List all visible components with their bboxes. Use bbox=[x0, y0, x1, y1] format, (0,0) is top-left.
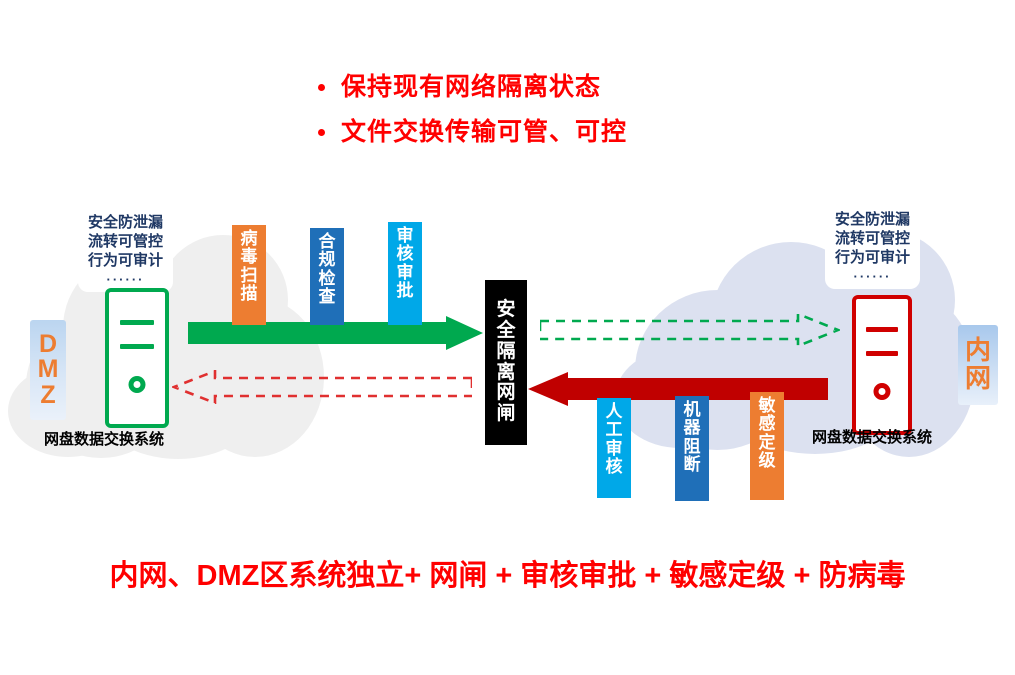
server-bar bbox=[120, 344, 155, 349]
badge-char: 病 bbox=[241, 230, 258, 248]
callout-intranet: 安全防泄漏 流转可管控 行为可审计 ······ bbox=[825, 203, 920, 289]
callout-dots-icon: ······ bbox=[835, 270, 910, 283]
badge-char: 审 bbox=[397, 264, 414, 282]
gateway-char: 隔 bbox=[496, 342, 515, 363]
security-gateway-box: 安 全 隔 离 网 闸 bbox=[485, 280, 527, 445]
bullet-dot-icon bbox=[318, 84, 325, 91]
summary-footer: 内网、DMZ区系统独立+ 网闸 + 审核审批 + 敏感定级 + 防病毒 bbox=[0, 552, 1015, 594]
arrow-gateway-to-dmz bbox=[172, 370, 472, 404]
badge-char: 扫 bbox=[241, 267, 258, 285]
bullet-item: 文件交换传输可管、可控 bbox=[318, 120, 798, 145]
server-bar bbox=[866, 327, 898, 332]
callout-line: 安全防泄漏 bbox=[835, 211, 910, 230]
badge-manual-review: 人 工 审 核 bbox=[597, 398, 631, 498]
caption-intranet-system: 网盘数据交换系统 bbox=[812, 426, 932, 447]
zone-char: 网 bbox=[965, 365, 991, 393]
callout-line: 安全防泄漏 bbox=[88, 214, 163, 233]
badge-char: 合 bbox=[319, 233, 336, 251]
callout-line: 流转可管控 bbox=[88, 233, 163, 252]
callout-line: 流转可管控 bbox=[835, 230, 910, 249]
caption-dmz-system: 网盘数据交换系统 bbox=[44, 428, 164, 449]
badge-sensitivity-grading: 敏 感 定 级 bbox=[750, 392, 784, 500]
badge-char: 描 bbox=[241, 285, 258, 303]
bullet-dot-icon bbox=[318, 129, 325, 136]
badge-char: 断 bbox=[684, 456, 701, 474]
callout-line: 行为可审计 bbox=[88, 252, 163, 271]
badge-char: 审 bbox=[606, 440, 623, 458]
gateway-char: 闸 bbox=[496, 404, 515, 425]
badge-char: 规 bbox=[319, 251, 336, 269]
bullet-item: 保持现有网络隔离状态 bbox=[318, 75, 798, 100]
zone-char: 内 bbox=[965, 337, 991, 365]
server-icon-intranet bbox=[852, 295, 912, 435]
badge-char: 感 bbox=[759, 415, 776, 433]
badge-machine-block: 机 器 阻 断 bbox=[675, 396, 709, 501]
zone-chip-intranet: 内 网 bbox=[958, 325, 998, 405]
server-bar bbox=[120, 320, 155, 325]
gateway-char: 全 bbox=[496, 321, 515, 342]
server-icon-dmz bbox=[105, 288, 169, 428]
diagram-canvas: 保持现有网络隔离状态 文件交换传输可管、可控 D M Z 内 网 安全防泄漏 流… bbox=[0, 0, 1015, 675]
gateway-char: 网 bbox=[496, 383, 515, 404]
badge-review-approval: 审 核 审 批 bbox=[388, 222, 422, 325]
server-power-icon bbox=[874, 383, 891, 400]
bullet-list: 保持现有网络隔离状态 文件交换传输可管、可控 bbox=[318, 75, 798, 165]
badge-char: 器 bbox=[684, 419, 701, 437]
badge-compliance-check: 合 规 检 查 bbox=[310, 228, 344, 325]
badge-char: 毒 bbox=[241, 248, 258, 266]
server-power-icon bbox=[129, 376, 146, 393]
badge-char: 审 bbox=[397, 227, 414, 245]
zone-letter: Z bbox=[40, 383, 55, 409]
badge-char: 检 bbox=[319, 270, 336, 288]
bullet-text: 文件交换传输可管、可控 bbox=[341, 120, 627, 145]
bullet-text: 保持现有网络隔离状态 bbox=[341, 75, 601, 100]
badge-char: 工 bbox=[606, 421, 623, 439]
gateway-char: 离 bbox=[496, 363, 515, 384]
badge-char: 阻 bbox=[684, 438, 701, 456]
badge-char: 定 bbox=[759, 434, 776, 452]
badge-char: 敏 bbox=[759, 397, 776, 415]
server-bar bbox=[866, 351, 898, 356]
callout-dots-icon: ······ bbox=[88, 273, 163, 286]
badge-char: 人 bbox=[606, 403, 623, 421]
badge-char: 机 bbox=[684, 401, 701, 419]
callout-line: 行为可审计 bbox=[835, 249, 910, 268]
badge-virus-scan: 病 毒 扫 描 bbox=[232, 225, 266, 325]
badge-char: 查 bbox=[319, 288, 336, 306]
callout-dmz: 安全防泄漏 流转可管控 行为可审计 ······ bbox=[78, 206, 173, 292]
gateway-char: 安 bbox=[496, 300, 515, 321]
badge-char: 批 bbox=[397, 282, 414, 300]
badge-char: 核 bbox=[397, 245, 414, 263]
badge-char: 级 bbox=[759, 452, 776, 470]
zone-chip-dmz: D M Z bbox=[30, 320, 66, 420]
zone-letter: M bbox=[38, 357, 59, 383]
arrow-gateway-to-intranet bbox=[540, 313, 840, 347]
zone-letter: D bbox=[39, 332, 57, 358]
badge-char: 核 bbox=[606, 458, 623, 476]
